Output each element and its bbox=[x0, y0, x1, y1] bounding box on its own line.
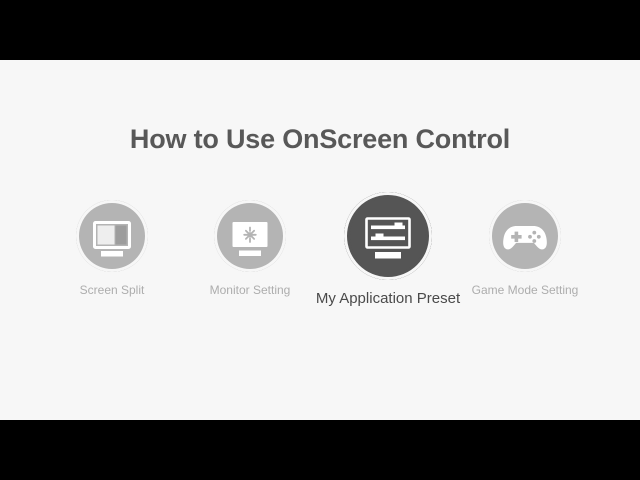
badge-circle-my-application-preset[interactable] bbox=[344, 192, 432, 280]
badge-wrapper-monitor-setting bbox=[180, 190, 320, 282]
video-frame: How to Use OnScreen Control bbox=[0, 0, 640, 480]
feature-item-label-game-mode-setting: Game Mode Setting bbox=[472, 283, 579, 297]
monitor-sliders-icon bbox=[344, 192, 432, 280]
feature-item-game-mode-setting[interactable]: Game Mode Setting bbox=[455, 190, 595, 282]
badge-wrapper-my-application-preset bbox=[318, 190, 458, 282]
feature-item-monitor-setting[interactable]: Monitor Setting bbox=[180, 190, 320, 282]
badge-circle-screen-split[interactable] bbox=[76, 200, 148, 272]
letterbox-bottom-bar bbox=[0, 420, 640, 480]
feature-items-row: Screen Split bbox=[0, 190, 640, 320]
feature-item-label-screen-split: Screen Split bbox=[80, 283, 145, 297]
badge-wrapper-game-mode-setting bbox=[455, 190, 595, 282]
feature-item-label-monitor-setting: Monitor Setting bbox=[210, 283, 291, 297]
split-monitor-icon bbox=[76, 200, 148, 272]
gamepad-icon bbox=[489, 200, 561, 272]
slide-stage: How to Use OnScreen Control bbox=[0, 60, 640, 420]
badge-wrapper-screen-split bbox=[42, 190, 182, 282]
badge-circle-game-mode-setting[interactable] bbox=[489, 200, 561, 272]
letterbox-top-bar bbox=[0, 0, 640, 60]
feature-item-label-my-application-preset: My Application Preset bbox=[316, 290, 460, 307]
badge-circle-monitor-setting[interactable] bbox=[214, 200, 286, 272]
monitor-brightness-icon bbox=[214, 200, 286, 272]
feature-item-my-application-preset[interactable]: My Application Preset bbox=[318, 190, 458, 282]
feature-item-screen-split[interactable]: Screen Split bbox=[42, 190, 182, 282]
page-title: How to Use OnScreen Control bbox=[0, 124, 640, 155]
